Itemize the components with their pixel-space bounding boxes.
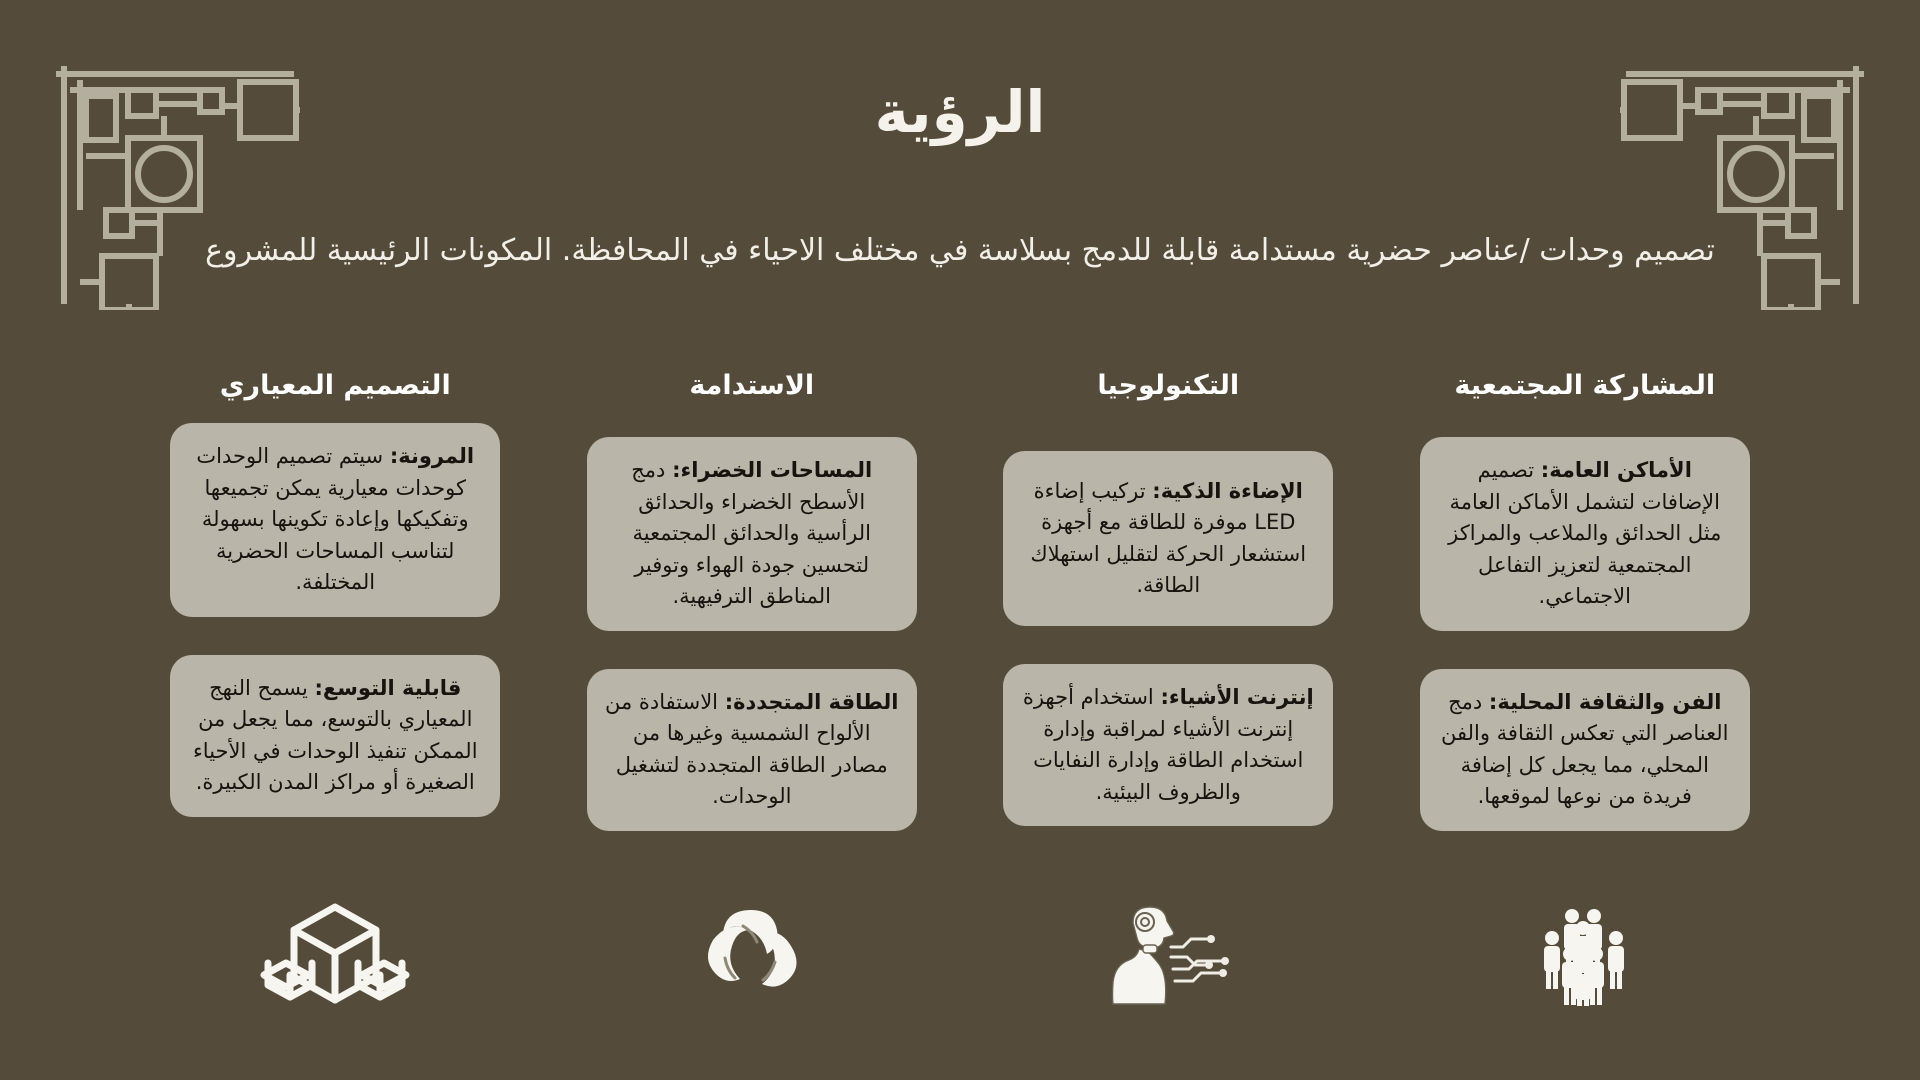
slide-title: الرؤية bbox=[0, 78, 1920, 146]
card-green-spaces[interactable]: المساحات الخضراء: دمج الأسطح الخضراء وال… bbox=[587, 437, 917, 631]
card-term: الأماكن العامة bbox=[1549, 458, 1692, 482]
bottom-icons-row bbox=[140, 886, 1780, 1006]
card-separator: : bbox=[1152, 479, 1160, 503]
card-separator: : bbox=[1160, 685, 1168, 709]
card-separator: : bbox=[1541, 458, 1549, 482]
cards-community-participation: الأماكن العامة: تصميم الإضافات لتشمل الأ… bbox=[1390, 423, 1781, 831]
column-modular-design: التصميم المعياري المرونة: سيتم تصميم الو… bbox=[140, 370, 531, 831]
card-flexibility[interactable]: المرونة: سيتم تصميم الوحدات كوحدات معيار… bbox=[170, 423, 500, 617]
card-public-spaces[interactable]: الأماكن العامة: تصميم الإضافات لتشمل الأ… bbox=[1420, 437, 1750, 631]
cards-sustainability: المساحات الخضراء: دمج الأسطح الخضراء وال… bbox=[557, 423, 948, 831]
cards-modular-design: المرونة: سيتم تصميم الوحدات كوحدات معيار… bbox=[140, 423, 531, 817]
column-heading-community-participation: المشاركة المجتمعية bbox=[1454, 370, 1715, 401]
card-term: الطاقة المتجددة bbox=[733, 690, 898, 714]
column-community-participation: المشاركة المجتمعية الأماكن العامة: تصميم… bbox=[1390, 370, 1781, 831]
card-local-art-culture[interactable]: الفن والثقافة المحلية: دمج العناصر التي … bbox=[1420, 669, 1750, 831]
cards-technology: الإضاءة الذكية: تركيب إضاءة LED موفرة لل… bbox=[973, 423, 1364, 826]
card-smart-lighting[interactable]: الإضاءة الذكية: تركيب إضاءة LED موفرة لل… bbox=[1003, 451, 1333, 626]
card-separator: : bbox=[390, 444, 398, 468]
slide-root: الرؤية تصميم وحدات /عناصر حضرية مستدامة … bbox=[0, 0, 1920, 1080]
icon-slot-sustainability bbox=[557, 886, 948, 1006]
card-term: المساحات الخضراء bbox=[680, 458, 872, 482]
card-term: الإضاءة الذكية bbox=[1161, 479, 1303, 503]
card-internet-of-things[interactable]: إنترنت الأشياء: استخدام أجهزة إنترنت الأ… bbox=[1003, 664, 1333, 826]
modular-cubes-icon bbox=[260, 901, 410, 1006]
icon-slot-modular-design bbox=[140, 886, 531, 1006]
columns-container: المشاركة المجتمعية الأماكن العامة: تصميم… bbox=[140, 370, 1780, 831]
column-heading-technology: التكنولوجيا bbox=[1097, 370, 1239, 401]
recycle-leaves-icon bbox=[699, 906, 804, 1006]
column-heading-modular-design: التصميم المعياري bbox=[220, 370, 451, 401]
card-body-led: LED bbox=[1254, 510, 1295, 534]
card-separator: : bbox=[725, 690, 733, 714]
people-group-icon bbox=[1530, 906, 1640, 1006]
slide-subtitle: تصميم وحدات /عناصر حضرية مستدامة قابلة ل… bbox=[180, 228, 1740, 275]
card-separator: : bbox=[315, 676, 323, 700]
card-scalability[interactable]: قابلية التوسع: يسمح النهج المعياري بالتو… bbox=[170, 655, 500, 817]
card-term: قابلية التوسع bbox=[323, 676, 462, 700]
icon-slot-community bbox=[1390, 886, 1781, 1006]
icon-slot-technology bbox=[973, 886, 1364, 1006]
card-term: إنترنت الأشياء bbox=[1169, 685, 1314, 709]
card-term: الفن والثقافة المحلية bbox=[1497, 690, 1721, 714]
robot-ai-icon bbox=[1103, 901, 1233, 1006]
column-sustainability: الاستدامة المساحات الخضراء: دمج الأسطح ا… bbox=[557, 370, 948, 831]
card-renewable-energy[interactable]: الطاقة المتجددة: الاستفادة من الألواح ال… bbox=[587, 669, 917, 831]
column-technology: التكنولوجيا الإضاءة الذكية: تركيب إضاءة … bbox=[973, 370, 1364, 831]
column-heading-sustainability: الاستدامة bbox=[689, 370, 814, 401]
card-body: تركيب إضاءة bbox=[1034, 479, 1153, 503]
card-term: المرونة bbox=[398, 444, 474, 468]
